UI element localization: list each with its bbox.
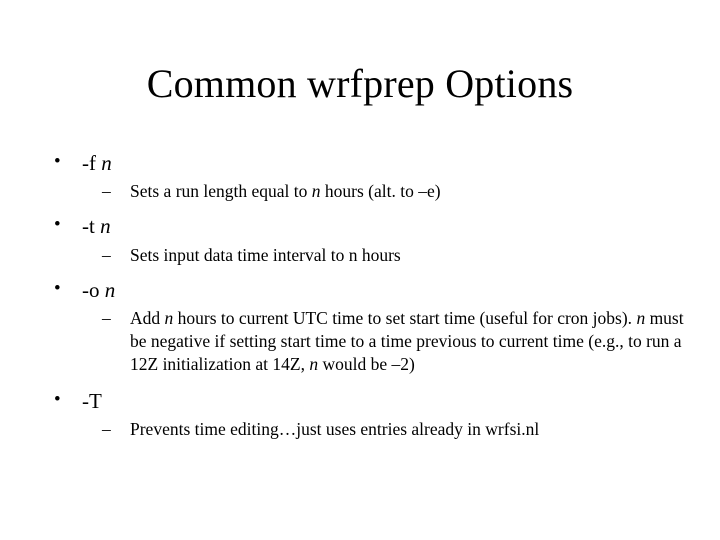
bullet-glyph: •	[54, 277, 61, 301]
detail-text-b: n	[312, 181, 321, 201]
dash-glyph: –	[102, 180, 111, 203]
page-title: Common wrfprep Options	[0, 62, 720, 106]
option-name: -f	[82, 151, 101, 175]
list-item-detail: – Sets a run length equal to n hours (al…	[46, 180, 686, 203]
option-name: -o	[82, 278, 105, 302]
bullet-glyph: •	[54, 150, 61, 174]
option-arg: n	[100, 214, 111, 238]
slide: Common wrfprep Options • -f n – Sets a r…	[0, 0, 720, 540]
detail-text-g: would be –2)	[318, 354, 415, 374]
option-group-o: • -o n – Add n hours to current UTC time…	[46, 277, 686, 377]
list-item-detail: – Add n hours to current UTC time to set…	[46, 307, 686, 376]
detail-text-a: Add	[130, 308, 165, 328]
detail-text-c: hours to current UTC time to set start t…	[173, 308, 636, 328]
detail-text-f: n	[309, 354, 318, 374]
bullet-glyph: •	[54, 388, 61, 412]
option-name: -t	[82, 214, 100, 238]
bullet-glyph: •	[54, 213, 61, 237]
detail-text-a: Sets input data time interval to n hours	[130, 245, 401, 265]
dash-glyph: –	[102, 307, 111, 330]
detail-text-a: Prevents time editing…just uses entries …	[130, 419, 539, 439]
list-item-option: • -T	[46, 388, 686, 414]
detail-text-b: n	[165, 308, 174, 328]
option-name: -T	[82, 389, 102, 413]
slide-body: • -f n – Sets a run length equal to n ho…	[46, 150, 686, 452]
list-item-detail: – Prevents time editing…just uses entrie…	[46, 418, 686, 441]
option-group-t: • -t n – Sets input data time interval t…	[46, 213, 686, 266]
list-item-option: • -f n	[46, 150, 686, 176]
dash-glyph: –	[102, 244, 111, 267]
detail-text-d: n	[636, 308, 645, 328]
list-item-option: • -o n	[46, 277, 686, 303]
option-group-f: • -f n – Sets a run length equal to n ho…	[46, 150, 686, 203]
option-arg: n	[105, 278, 116, 302]
list-item-option: • -t n	[46, 213, 686, 239]
option-arg: n	[101, 151, 112, 175]
detail-text-c: hours (alt. to –e)	[321, 181, 441, 201]
dash-glyph: –	[102, 418, 111, 441]
list-item-detail: – Sets input data time interval to n hou…	[46, 244, 686, 267]
detail-text-a: Sets a run length equal to	[130, 181, 312, 201]
option-group-T: • -T – Prevents time editing…just uses e…	[46, 388, 686, 441]
